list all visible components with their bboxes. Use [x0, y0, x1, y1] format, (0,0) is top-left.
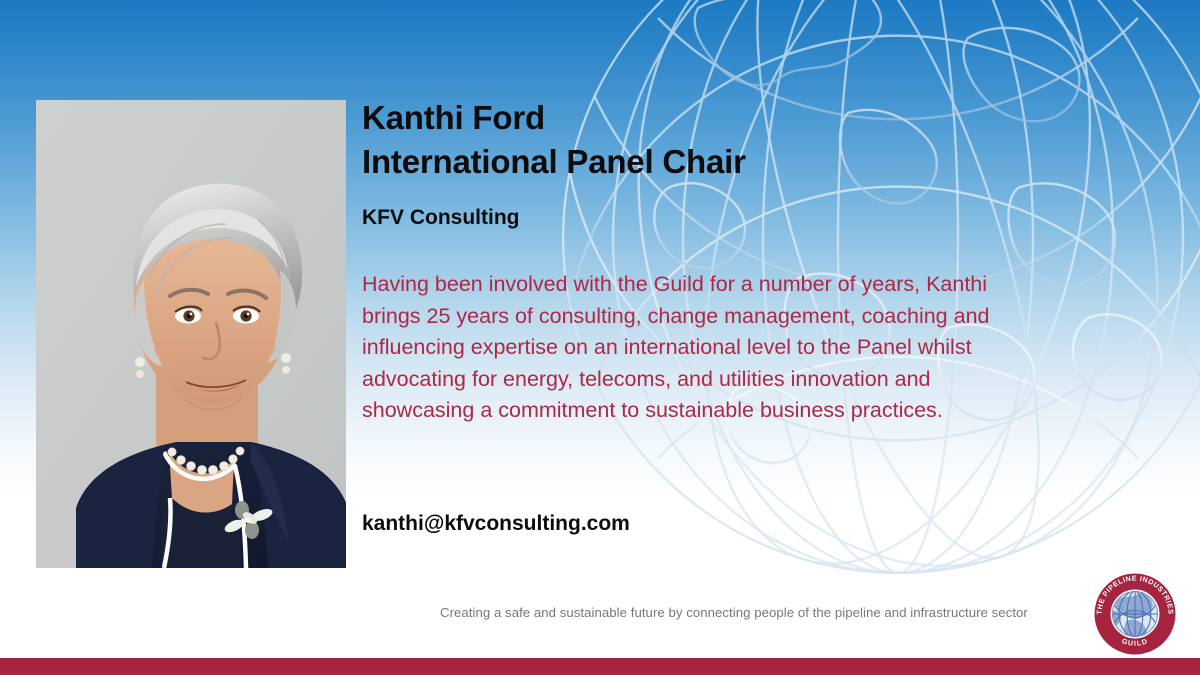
pipeline-industries-guild-logo-icon: THE PIPELINE INDUSTRIES GUILD [1091, 570, 1179, 658]
footer-tagline: Creating a safe and sustainable future b… [440, 605, 1028, 620]
speaker-name: Kanthi Ford [362, 96, 1062, 140]
speaker-role: International Panel Chair [362, 140, 1062, 184]
slide-canvas: Kanthi Ford International Panel Chair KF… [0, 0, 1200, 675]
speaker-text-block: Kanthi Ford International Panel Chair KF… [362, 96, 1062, 427]
bottom-accent-bar [0, 658, 1200, 675]
portrait-photo [36, 100, 346, 568]
speaker-bio: Having been involved with the Guild for … [362, 269, 1042, 427]
speaker-email[interactable]: kanthi@kfvconsulting.com [362, 512, 630, 536]
portrait-illustration [36, 100, 346, 568]
speaker-company: KFV Consulting [362, 204, 1062, 232]
